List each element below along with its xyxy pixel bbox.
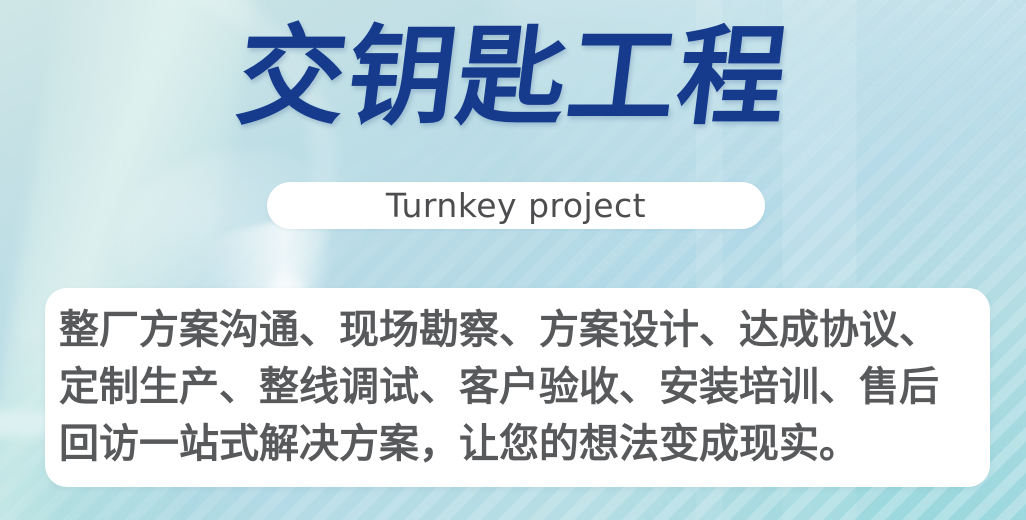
page-title: 交钥匙工程: [0, 18, 1026, 139]
description-line: 定制生产、整线调试、客户验收、安装培训、售后: [59, 359, 976, 416]
subtitle-pill: Turnkey project: [267, 182, 765, 229]
description-card: 整厂方案沟通、现场勘察、方案设计、达成协议、 定制生产、整线调试、客户验收、安装…: [45, 288, 990, 487]
description-line: 回访一站式解决方案，让您的想法变成现实。: [59, 416, 976, 473]
description-line: 整厂方案沟通、现场勘察、方案设计、达成协议、: [59, 302, 976, 359]
subtitle-text: Turnkey project: [386, 186, 646, 225]
banner-content: 交钥匙工程 Turnkey project 整厂方案沟通、现场勘察、方案设计、达…: [0, 0, 1026, 520]
turnkey-project-banner: 交钥匙工程 Turnkey project 整厂方案沟通、现场勘察、方案设计、达…: [0, 0, 1026, 520]
